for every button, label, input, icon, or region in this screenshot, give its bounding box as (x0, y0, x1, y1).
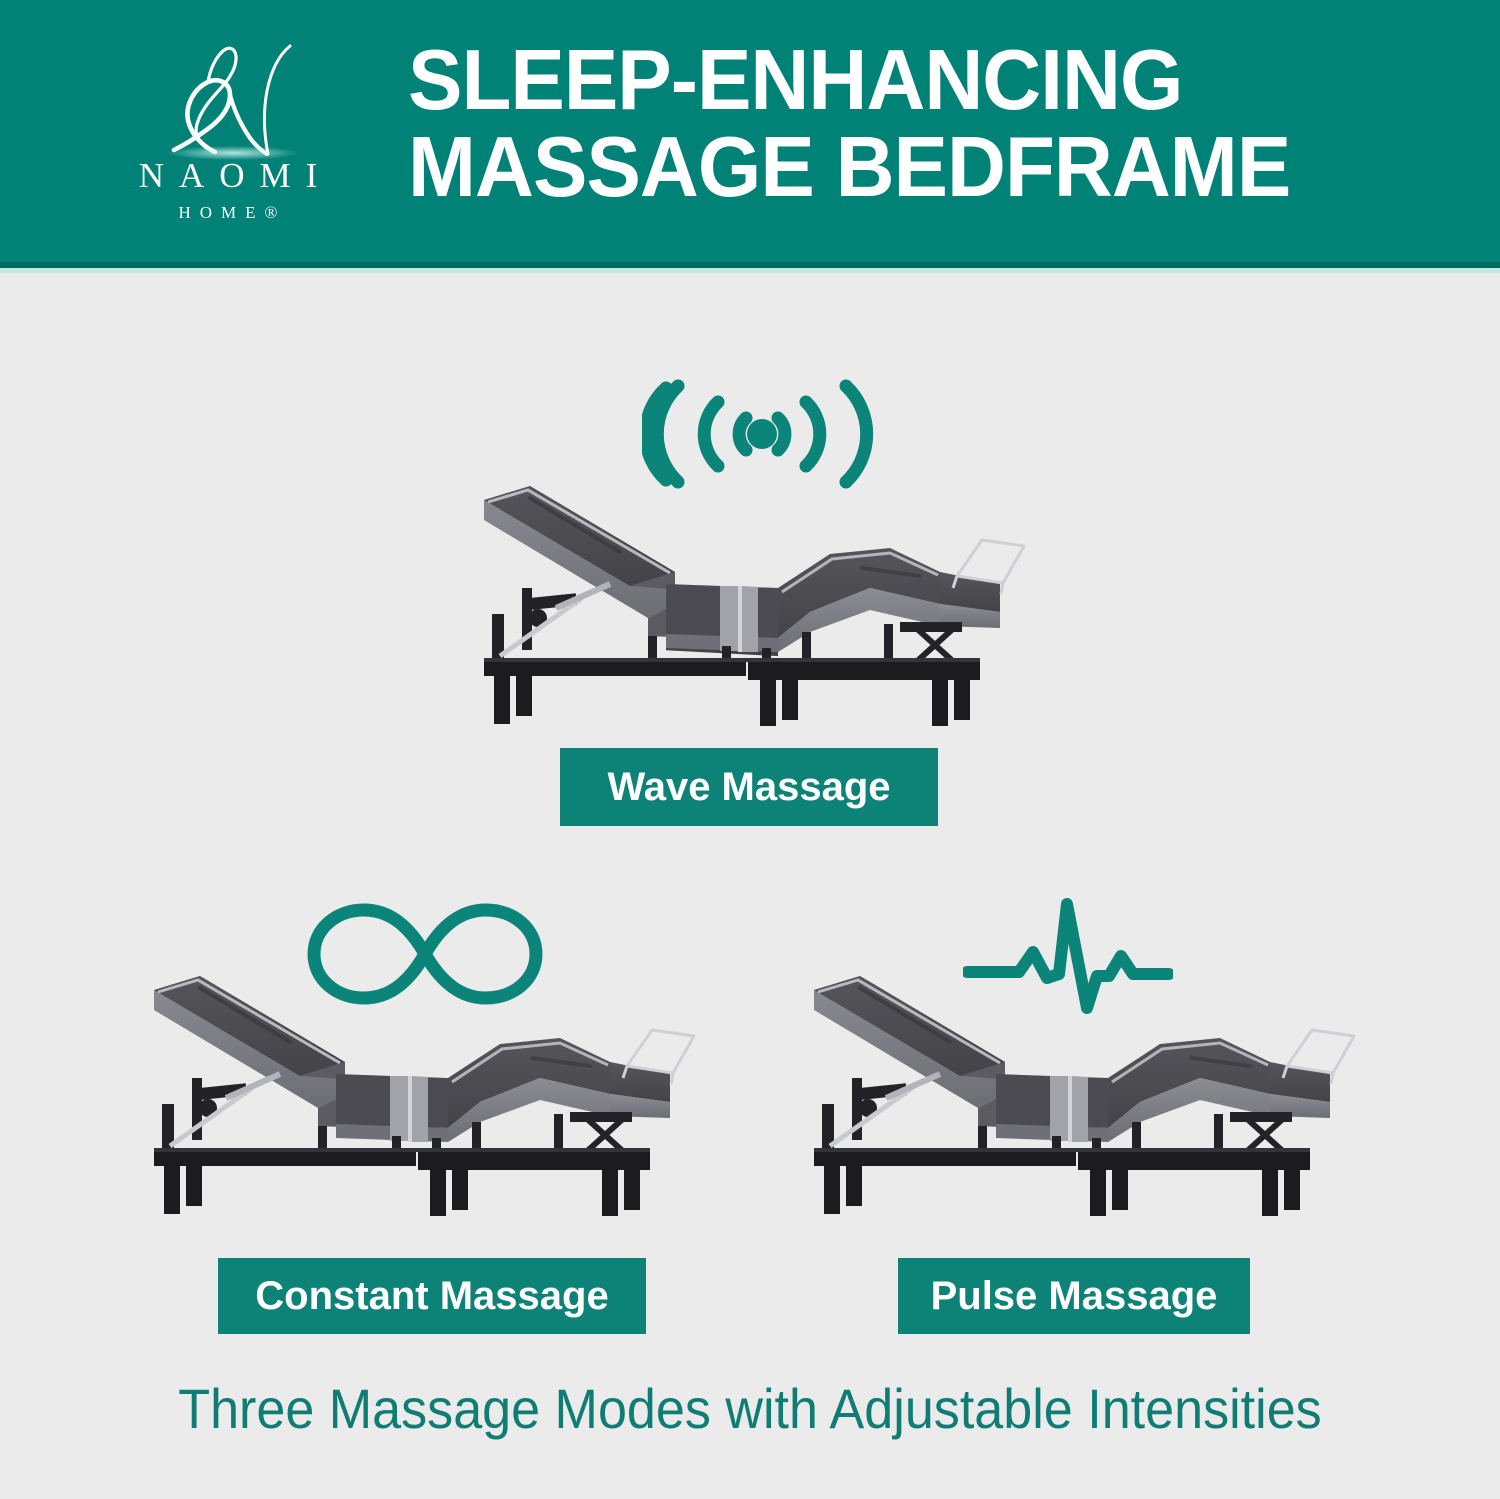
mode-label-pulse-text: Pulse Massage (931, 1274, 1218, 1319)
logo-wordmark: NAOMI (78, 158, 378, 193)
mode-label-constant-text: Constant Massage (255, 1274, 608, 1319)
header-banner: NAOMI HOME® SLEEP-ENHANCING MASSAGE BEDF… (0, 0, 1500, 268)
page-title-line-1: SLEEP-ENHANCING (408, 38, 1435, 125)
product-image-pulse (800, 966, 1360, 1216)
header-accent-line (0, 268, 1500, 273)
naomi-script-n-monogram-icon (78, 38, 378, 156)
mode-label-wave: Wave Massage (560, 748, 938, 826)
page-title: SLEEP-ENHANCING MASSAGE BEDFRAME (408, 38, 1435, 211)
mode-label-constant: Constant Massage (218, 1258, 646, 1334)
logo-sub-wordmark: HOME® (78, 204, 378, 221)
mode-label-wave-text: Wave Massage (607, 765, 890, 810)
footer-caption: Three Massage Modes with Adjustable Inte… (53, 1378, 1448, 1440)
mode-label-pulse: Pulse Massage (898, 1258, 1250, 1334)
signal-waves-icon (642, 378, 882, 490)
product-image-constant (140, 966, 700, 1216)
product-image-wave (470, 476, 1030, 726)
page-title-line-2: MASSAGE BEDFRAME (408, 125, 1435, 212)
brand-logo: NAOMI HOME® (78, 38, 378, 238)
product-infographic: NAOMI HOME® SLEEP-ENHANCING MASSAGE BEDF… (0, 0, 1500, 1499)
